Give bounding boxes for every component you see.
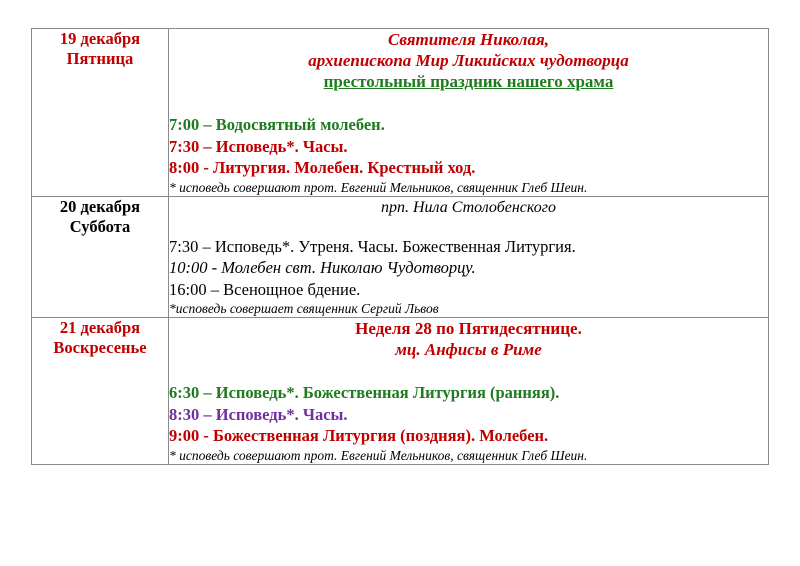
- date-weekday: Воскресенье: [32, 338, 168, 358]
- feast-heading-line: престольный праздник нашего храма: [169, 71, 768, 92]
- date-day: 20 декабря: [32, 197, 168, 217]
- service-line: 10:00 - Молебен свт. Николаю Чудотворцу.: [169, 257, 768, 279]
- table-row: 20 декабря Суббота прп. Нила Столобенско…: [32, 196, 769, 318]
- date-weekday: Пятница: [32, 49, 168, 69]
- date-cell: 20 декабря Суббота: [32, 196, 169, 318]
- service-line: 16:00 – Всенощное бдение.: [169, 279, 768, 301]
- document-page: 19 декабря Пятница Святителя Николая, ар…: [0, 0, 800, 566]
- schedule-cell: Неделя 28 по Пятидесятнице. мц. Анфисы в…: [169, 318, 769, 465]
- feast-heading-line: прп. Нила Столобенского: [169, 197, 768, 218]
- feast-heading-line: архиепископа Мир Ликийских чудотворца: [169, 50, 768, 71]
- date-day: 21 декабря: [32, 318, 168, 338]
- date-day: 19 декабря: [32, 29, 168, 49]
- spacer: [169, 360, 768, 382]
- date-weekday: Суббота: [32, 217, 168, 237]
- service-line: 6:30 – Исповедь*. Божественная Литургия …: [169, 382, 768, 404]
- feast-heading-line: Святителя Николая,: [169, 29, 768, 50]
- service-line: 7:30 – Исповедь*. Утреня. Часы. Божестве…: [169, 236, 768, 258]
- service-line: 7:30 – Исповедь*. Часы.: [169, 136, 768, 158]
- table-row: 19 декабря Пятница Святителя Николая, ар…: [32, 29, 769, 197]
- date-cell: 21 декабря Воскресенье: [32, 318, 169, 465]
- spacer: [169, 92, 768, 114]
- date-cell: 19 декабря Пятница: [32, 29, 169, 197]
- confession-note: * исповедь совершают прот. Евгений Мельн…: [169, 179, 768, 196]
- spacer: [169, 218, 768, 236]
- feast-heading-line: мц. Анфисы в Риме: [169, 339, 768, 360]
- schedule-cell: прп. Нила Столобенского 7:30 – Исповедь*…: [169, 196, 769, 318]
- confession-note: * исповедь совершают прот. Евгений Мельн…: [169, 447, 768, 464]
- service-line: 9:00 - Божественная Литургия (поздняя). …: [169, 425, 768, 447]
- table-row: 21 декабря Воскресенье Неделя 28 по Пяти…: [32, 318, 769, 465]
- feast-heading-line: Неделя 28 по Пятидесятнице.: [169, 318, 768, 339]
- schedule-cell: Святителя Николая, архиепископа Мир Лики…: [169, 29, 769, 197]
- service-line: 8:00 - Литургия. Молебен. Крестный ход.: [169, 157, 768, 179]
- confession-note: *исповедь совершает священник Сергий Льв…: [169, 300, 768, 317]
- service-line: 7:00 – Водосвятный молебен.: [169, 114, 768, 136]
- service-schedule-table: 19 декабря Пятница Святителя Николая, ар…: [31, 28, 769, 465]
- service-line: 8:30 – Исповедь*. Часы.: [169, 404, 768, 426]
